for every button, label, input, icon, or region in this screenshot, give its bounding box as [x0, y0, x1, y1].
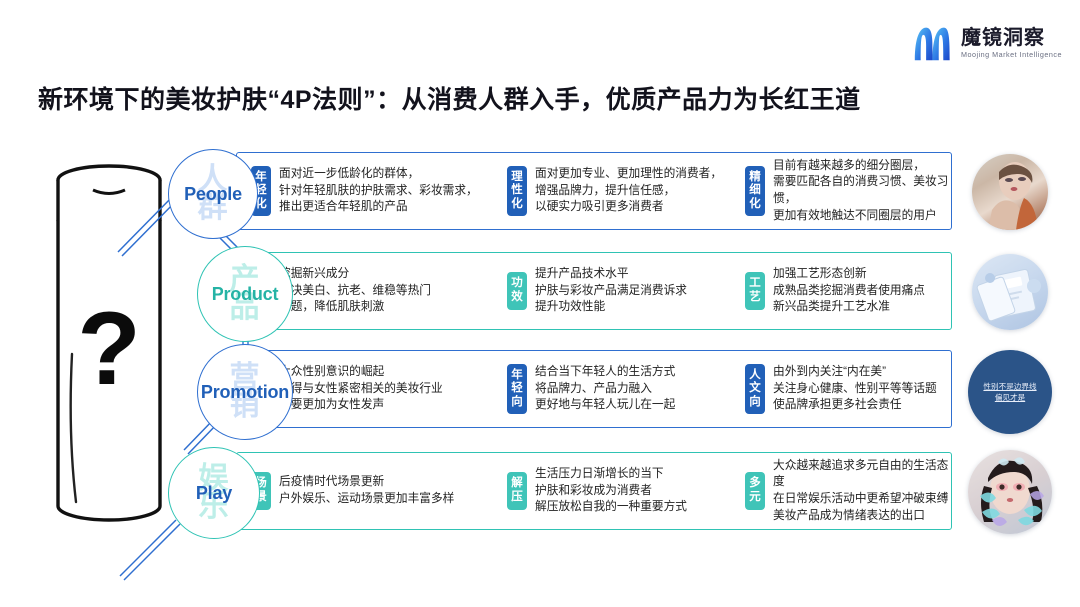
cell-promotion-1: 年轻向 结合当下年轻人的生活方式 将品牌力、产品力融入 更好地与年轻人玩儿在一起 — [497, 351, 735, 427]
row-people: 年轻化 面对近一步低龄化的群体， 针对年轻肌肤的护肤需求、彩妆需求， 推出更适合… — [236, 152, 952, 230]
cell-people-2: 精细化 目前有越来越多的细分圈层， 需要匹配各自的消费习惯、美妆习惯， 更加有效… — [735, 153, 951, 229]
bottle-question-mark: ? — [46, 158, 172, 540]
desc-play-2: 大众越来越追求多元自由的生活态度 在日常娱乐活动中更希望冲破束缚 美妆产品成为情… — [773, 458, 951, 525]
thumb-product[interactable] — [972, 254, 1048, 330]
node-product[interactable]: 产品 Product — [197, 246, 293, 342]
node-people[interactable]: 人群 People — [168, 149, 258, 239]
desc-product-0: 挖掘新兴成分 解决美白、抗老、维稳等热门 问题，降低肌肤刺激 — [279, 266, 431, 316]
page-title: 新环境下的美妆护肤“4P法则”：从消费人群入手，优质产品力为长红王道 — [38, 80, 938, 116]
node-promotion[interactable]: 营销 Promotion — [197, 344, 293, 440]
desc-play-0: 后疫情时代场景更新 户外娱乐、运动场景更加丰富多样 — [279, 474, 454, 507]
cell-play-2: 多元 大众越来越追求多元自由的生活态度 在日常娱乐活动中更希望冲破束缚 美妆产品… — [735, 453, 951, 529]
cell-product-2: 工艺 加强工艺形态创新 成熟品类挖掘消费者使用痛点 新兴品类提升工艺水准 — [735, 253, 951, 329]
cell-play-1: 解压 生活压力日渐增长的当下 护肤和彩妆成为消费者 解压放松自我的一种重要方式 — [497, 453, 735, 529]
tag-product-1: 功效 — [507, 272, 527, 309]
row-product: 成分 挖掘新兴成分 解决美白、抗老、维稳等热门 问题，降低肌肤刺激 功效 提升产… — [236, 252, 952, 330]
m-logo-icon — [912, 24, 952, 62]
row-promotion: 女性向 大众性别意识的崛起 使得与女性紧密相关的美妆行业 需要更加为女性发声 年… — [236, 350, 952, 428]
tag-promotion-2: 人文向 — [745, 364, 765, 415]
row-product-cells: 成分 挖掘新兴成分 解决美白、抗老、维稳等热门 问题，降低肌肤刺激 功效 提升产… — [237, 253, 955, 329]
brand-name-cn: 魔镜洞察 — [961, 28, 1062, 48]
thumb-promotion-caption: 性别不是边界线 偏见才是 — [968, 381, 1052, 403]
brand-logo: 魔镜洞察 Moojing Market Intelligence — [912, 24, 1062, 62]
model-portrait-thumbnail — [972, 154, 1048, 230]
desc-promotion-1: 结合当下年轻人的生活方式 将品牌力、产品力融入 更好地与年轻人玩儿在一起 — [535, 364, 675, 414]
node-play-en: Play — [196, 483, 232, 504]
cell-product-1: 功效 提升产品技术水平 护肤与彩妆产品满足消费诉求 提升功效性能 — [497, 253, 735, 329]
row-people-cells: 年轻化 面对近一步低龄化的群体， 针对年轻肌肤的护肤需求、彩妆需求， 推出更适合… — [237, 153, 955, 229]
desc-people-1: 面对更加专业、更加理性的消费者， 增强品牌力，提升信任感， 以硬实力吸引更多消费… — [535, 166, 722, 216]
brand-name-en: Moojing Market Intelligence — [961, 51, 1062, 58]
cell-promotion-2: 人文向 由外到内关注“内在美” 关注身心健康、性别平等等话题 使品牌承担更多社会… — [735, 351, 951, 427]
cell-people-0: 年轻化 面对近一步低龄化的群体， 针对年轻肌肤的护肤需求、彩妆需求， 推出更适合… — [241, 153, 497, 229]
desc-product-1: 提升产品技术水平 护肤与彩妆产品满足消费诉求 提升功效性能 — [535, 266, 687, 316]
desc-product-2: 加强工艺形态创新 成熟品类挖掘消费者使用痛点 新兴品类提升工艺水准 — [773, 266, 925, 316]
slide-canvas: 魔镜洞察 Moojing Market Intelligence 新环境下的美妆… — [0, 0, 1080, 607]
creative-makeup-look-thumbnail — [968, 450, 1052, 534]
thumb-play[interactable] — [968, 450, 1052, 534]
row-play: 场景 后疫情时代场景更新 户外娱乐、运动场景更加丰富多样 解压 生活压力日渐增长… — [236, 452, 952, 530]
thumb-people[interactable] — [972, 154, 1048, 230]
node-play[interactable]: 娱乐 Play — [168, 447, 260, 539]
cell-people-1: 理性化 面对更加专业、更加理性的消费者， 增强品牌力，提升信任感， 以硬实力吸引… — [497, 153, 735, 229]
desc-promotion-2: 由外到内关注“内在美” 关注身心健康、性别平等等话题 使品牌承担更多社会责任 — [773, 364, 937, 414]
row-play-cells: 场景 后疫情时代场景更新 户外娱乐、运动场景更加丰富多样 解压 生活压力日渐增长… — [237, 453, 955, 529]
tag-play-1: 解压 — [507, 472, 527, 509]
cell-play-0: 场景 后疫情时代场景更新 户外娱乐、运动场景更加丰富多样 — [241, 453, 497, 529]
thumb-promotion[interactable]: 性别不是边界线 偏见才是 — [968, 350, 1052, 434]
desc-play-1: 生活压力日渐增长的当下 护肤和彩妆成为消费者 解压放松自我的一种重要方式 — [535, 466, 687, 516]
tag-people-2: 精细化 — [745, 166, 765, 217]
tag-people-1: 理性化 — [507, 166, 527, 217]
skincare-sheet-mask-thumbnail — [972, 254, 1048, 330]
tag-product-2: 工艺 — [745, 272, 765, 309]
desc-promotion-0: 大众性别意识的崛起 使得与女性紧密相关的美妆行业 需要更加为女性发声 — [279, 364, 443, 414]
node-promotion-en: Promotion — [201, 382, 289, 403]
tag-promotion-1: 年轻向 — [507, 364, 527, 415]
node-people-en: People — [184, 184, 242, 205]
row-promotion-cells: 女性向 大众性别意识的崛起 使得与女性紧密相关的美妆行业 需要更加为女性发声 年… — [237, 351, 955, 427]
tag-play-2: 多元 — [745, 472, 765, 509]
node-product-en: Product — [212, 284, 279, 305]
desc-people-0: 面对近一步低龄化的群体， 针对年轻肌肤的护肤需求、彩妆需求， 推出更适合年轻肌的… — [279, 166, 478, 216]
desc-people-2: 目前有越来越多的细分圈层， 需要匹配各自的消费习惯、美妆习惯， 更加有效地触达不… — [773, 158, 951, 225]
